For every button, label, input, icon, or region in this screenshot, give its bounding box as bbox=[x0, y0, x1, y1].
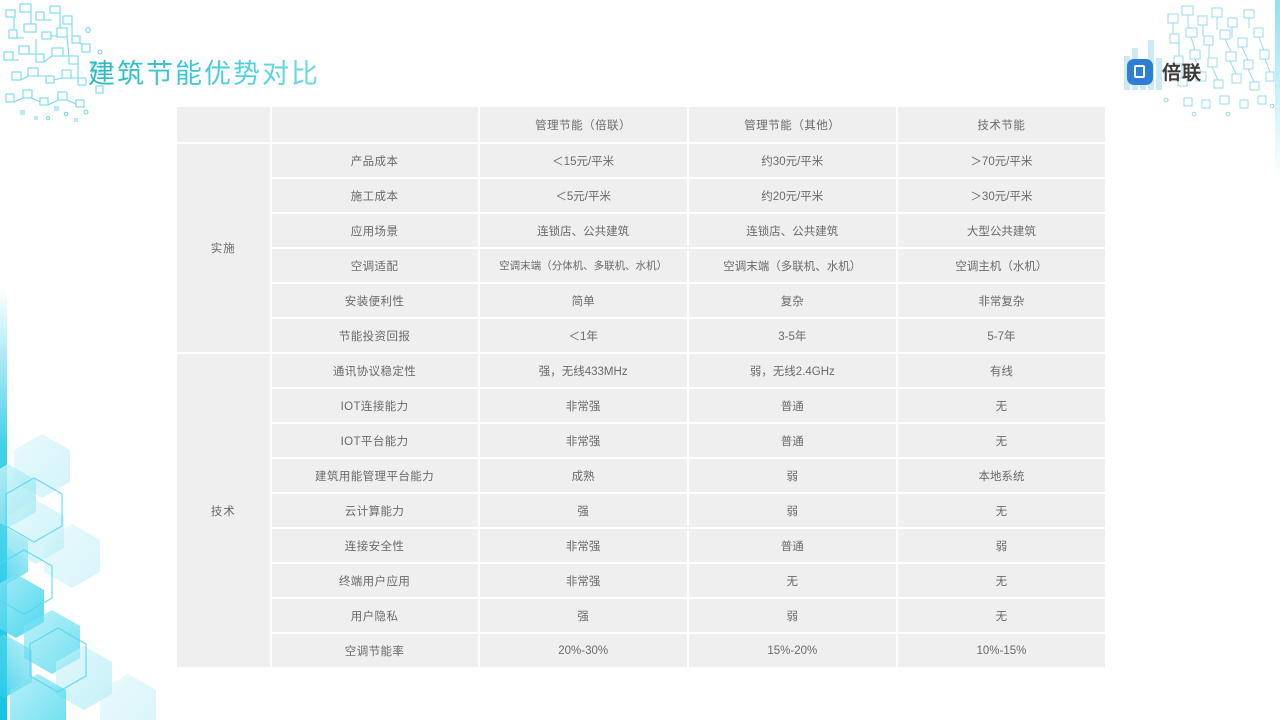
brand-name: 倍联 bbox=[1162, 58, 1202, 85]
table-row: 应用场景连锁店、公共建筑连锁店、公共建筑大型公共建筑 bbox=[177, 214, 1105, 247]
row-group-label: 技术 bbox=[177, 354, 270, 667]
cell-beilian: 强 bbox=[480, 494, 687, 527]
table-row: 连接安全性非常强普通弱 bbox=[177, 529, 1105, 562]
cell-tech: 无 bbox=[898, 599, 1105, 632]
cell-tech: ＞30元/平米 bbox=[898, 179, 1105, 212]
cell-other: 普通 bbox=[689, 424, 896, 457]
cell-other: 连锁店、公共建筑 bbox=[689, 214, 896, 247]
table-header-row: 管理节能（倍联） 管理节能（其他） 技术节能 bbox=[177, 107, 1105, 142]
cell-beilian: 非常强 bbox=[480, 424, 687, 457]
cell-tech: ＞70元/平米 bbox=[898, 144, 1105, 177]
cell-beilian: 连锁店、公共建筑 bbox=[480, 214, 687, 247]
cell-other: 普通 bbox=[689, 389, 896, 422]
cell-other: 弱 bbox=[689, 494, 896, 527]
table-row: 空调适配空调末端（分体机、多联机、水机）空调末端（多联机、水机）空调主机（水机） bbox=[177, 249, 1105, 282]
table-row: 终端用户应用非常强无无 bbox=[177, 564, 1105, 597]
row-item-label: IOT平台能力 bbox=[272, 424, 478, 457]
cell-tech: 无 bbox=[898, 564, 1105, 597]
row-item-label: 应用场景 bbox=[272, 214, 478, 247]
cell-tech: 弱 bbox=[898, 529, 1105, 562]
table-row: 用户隐私强弱无 bbox=[177, 599, 1105, 632]
cell-tech: 无 bbox=[898, 389, 1105, 422]
header-item-blank bbox=[272, 107, 478, 142]
row-item-label: 空调节能率 bbox=[272, 634, 478, 667]
table-header: 管理节能（倍联） 管理节能（其他） 技术节能 bbox=[177, 107, 1105, 142]
cell-other: 无 bbox=[689, 564, 896, 597]
table-row: 施工成本＜5元/平米约20元/平米＞30元/平米 bbox=[177, 179, 1105, 212]
cell-tech: 5-7年 bbox=[898, 319, 1105, 352]
row-item-label: 终端用户应用 bbox=[272, 564, 478, 597]
right-edge-gradient bbox=[1275, 0, 1280, 720]
cell-beilian: ＜15元/平米 bbox=[480, 144, 687, 177]
logo-glyph-icon bbox=[1134, 65, 1145, 78]
row-group-label: 实施 bbox=[177, 144, 270, 352]
table-row: 安装便利性简单复杂非常复杂 bbox=[177, 284, 1105, 317]
cell-beilian: ＜5元/平米 bbox=[480, 179, 687, 212]
cell-other: 弱，无线2.4GHz bbox=[689, 354, 896, 387]
table-row: 空调节能率20%-30%15%-20%10%-15% bbox=[177, 634, 1105, 667]
cell-beilian: 成熟 bbox=[480, 459, 687, 492]
table-row: 实施产品成本＜15元/平米约30元/平米＞70元/平米 bbox=[177, 144, 1105, 177]
header-category-blank bbox=[177, 107, 270, 142]
cell-tech: 本地系统 bbox=[898, 459, 1105, 492]
table-row: 技术通讯协议稳定性强，无线433MHz弱，无线2.4GHz有线 bbox=[177, 354, 1105, 387]
table-body: 实施产品成本＜15元/平米约30元/平米＞70元/平米施工成本＜5元/平米约20… bbox=[177, 144, 1105, 667]
cell-other: 约30元/平米 bbox=[689, 144, 896, 177]
row-item-label: 施工成本 bbox=[272, 179, 478, 212]
table-row: IOT连接能力非常强普通无 bbox=[177, 389, 1105, 422]
cell-other: 空调末端（多联机、水机） bbox=[689, 249, 896, 282]
table-row: 节能投资回报＜1年3-5年5-7年 bbox=[177, 319, 1105, 352]
cell-other: 弱 bbox=[689, 599, 896, 632]
cell-other: 3-5年 bbox=[689, 319, 896, 352]
cell-other: 约20元/平米 bbox=[689, 179, 896, 212]
header-col-beilian: 管理节能（倍联） bbox=[480, 107, 687, 142]
cell-tech: 无 bbox=[898, 494, 1105, 527]
cell-tech: 10%-15% bbox=[898, 634, 1105, 667]
page-title: 建筑节能优势对比 bbox=[88, 52, 320, 91]
cell-other: 15%-20% bbox=[689, 634, 896, 667]
comparison-table: 管理节能（倍联） 管理节能（其他） 技术节能 实施产品成本＜15元/平米约30元… bbox=[175, 105, 1107, 669]
rounded-square-logo-icon bbox=[1127, 59, 1153, 85]
row-item-label: IOT连接能力 bbox=[272, 389, 478, 422]
cell-other: 复杂 bbox=[689, 284, 896, 317]
cell-beilian: 非常强 bbox=[480, 564, 687, 597]
cell-beilian: 空调末端（分体机、多联机、水机） bbox=[480, 249, 687, 282]
cell-beilian: 强 bbox=[480, 599, 687, 632]
table-row: 建筑用能管理平台能力成熟弱本地系统 bbox=[177, 459, 1105, 492]
cell-tech: 空调主机（水机） bbox=[898, 249, 1105, 282]
cell-beilian: ＜1年 bbox=[480, 319, 687, 352]
row-item-label: 安装便利性 bbox=[272, 284, 478, 317]
row-item-label: 产品成本 bbox=[272, 144, 478, 177]
cell-tech: 无 bbox=[898, 424, 1105, 457]
row-item-label: 连接安全性 bbox=[272, 529, 478, 562]
cell-beilian: 非常强 bbox=[480, 389, 687, 422]
cell-beilian: 20%-30% bbox=[480, 634, 687, 667]
table-row: IOT平台能力非常强普通无 bbox=[177, 424, 1105, 457]
cell-other: 弱 bbox=[689, 459, 896, 492]
row-item-label: 云计算能力 bbox=[272, 494, 478, 527]
brand-logo: 倍联 bbox=[1127, 58, 1202, 85]
slide-canvas: 建筑节能优势对比 倍联 管理节能（倍联） 管理节能（其他） 技术节能 实施产品成… bbox=[0, 0, 1280, 720]
row-item-label: 用户隐私 bbox=[272, 599, 478, 632]
row-item-label: 空调适配 bbox=[272, 249, 478, 282]
header-col-other: 管理节能（其他） bbox=[689, 107, 896, 142]
cell-tech: 非常复杂 bbox=[898, 284, 1105, 317]
table-row: 云计算能力强弱无 bbox=[177, 494, 1105, 527]
cell-beilian: 强，无线433MHz bbox=[480, 354, 687, 387]
row-item-label: 节能投资回报 bbox=[272, 319, 478, 352]
cell-tech: 大型公共建筑 bbox=[898, 214, 1105, 247]
cell-other: 普通 bbox=[689, 529, 896, 562]
left-edge-gradient bbox=[0, 0, 7, 720]
hexagon-pattern-decoration-icon bbox=[0, 390, 200, 720]
row-item-label: 建筑用能管理平台能力 bbox=[272, 459, 478, 492]
header-col-tech: 技术节能 bbox=[898, 107, 1105, 142]
cell-beilian: 简单 bbox=[480, 284, 687, 317]
cell-tech: 有线 bbox=[898, 354, 1105, 387]
cell-beilian: 非常强 bbox=[480, 529, 687, 562]
row-item-label: 通讯协议稳定性 bbox=[272, 354, 478, 387]
